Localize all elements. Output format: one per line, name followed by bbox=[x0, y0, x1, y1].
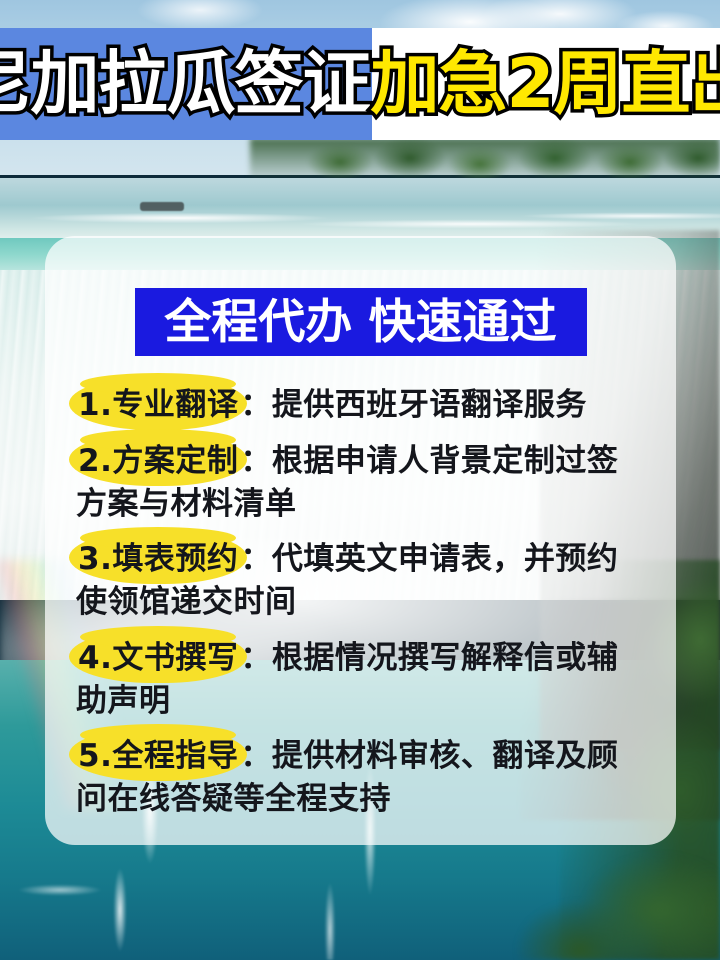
list-item-index: 3. bbox=[78, 541, 112, 577]
list-item-keyword-text: 专业翻译 bbox=[112, 387, 238, 423]
list-item-index: 5. bbox=[78, 738, 112, 774]
list-item-keyword-text: 文书撰写 bbox=[112, 640, 238, 676]
list-item: 5.全程指导：提供材料审核、翻译及顾问在线答疑等全程支持 bbox=[76, 735, 645, 821]
header-title-accent: 加急2周直出 bbox=[371, 50, 720, 119]
service-list: 1.专业翻译：提供西班牙语翻译服务 2.方案定制：根据申请人背景定制过签方案与材… bbox=[71, 384, 650, 821]
card-title-text: 全程代办 快速通过 bbox=[164, 299, 556, 346]
list-item-keyword: 3.填表预约 bbox=[76, 538, 240, 581]
list-item-index: 1. bbox=[78, 387, 112, 423]
list-item-keyword-text: 全程指导 bbox=[112, 738, 238, 774]
list-item-keyword: 2.方案定制 bbox=[76, 440, 240, 483]
boat-shape bbox=[140, 202, 184, 211]
list-item-keyword: 1.专业翻译 bbox=[76, 384, 240, 427]
list-item-index: 4. bbox=[78, 640, 112, 676]
list-item-body: 提供西班牙语翻译服务 bbox=[272, 387, 587, 423]
header-title: 尼加拉瓜签证 加急2周直出 bbox=[0, 28, 720, 140]
list-item: 1.专业翻译：提供西班牙语翻译服务 bbox=[76, 384, 645, 427]
list-item-index: 2. bbox=[78, 443, 112, 479]
list-item: 3.填表预约：代填英文申请表，并预约使领馆递交时间 bbox=[76, 538, 645, 624]
list-item-keyword-text: 填表预约 bbox=[112, 541, 238, 577]
list-item-keyword-text: 方案定制 bbox=[112, 443, 238, 479]
list-item-keyword: 4.文书撰写 bbox=[76, 637, 240, 680]
list-item-keyword: 5.全程指导 bbox=[76, 735, 240, 778]
list-item: 2.方案定制：根据申请人背景定制过签方案与材料清单 bbox=[76, 440, 645, 526]
header-title-primary: 尼加拉瓜签证 bbox=[0, 50, 371, 119]
list-item: 4.文书撰写：根据情况撰写解释信或辅助声明 bbox=[76, 637, 645, 723]
card-title-bar: 全程代办 快速通过 bbox=[135, 288, 587, 356]
content-card: 全程代办 快速通过 1.专业翻译：提供西班牙语翻译服务 2.方案定制：根据申请人… bbox=[45, 236, 676, 845]
